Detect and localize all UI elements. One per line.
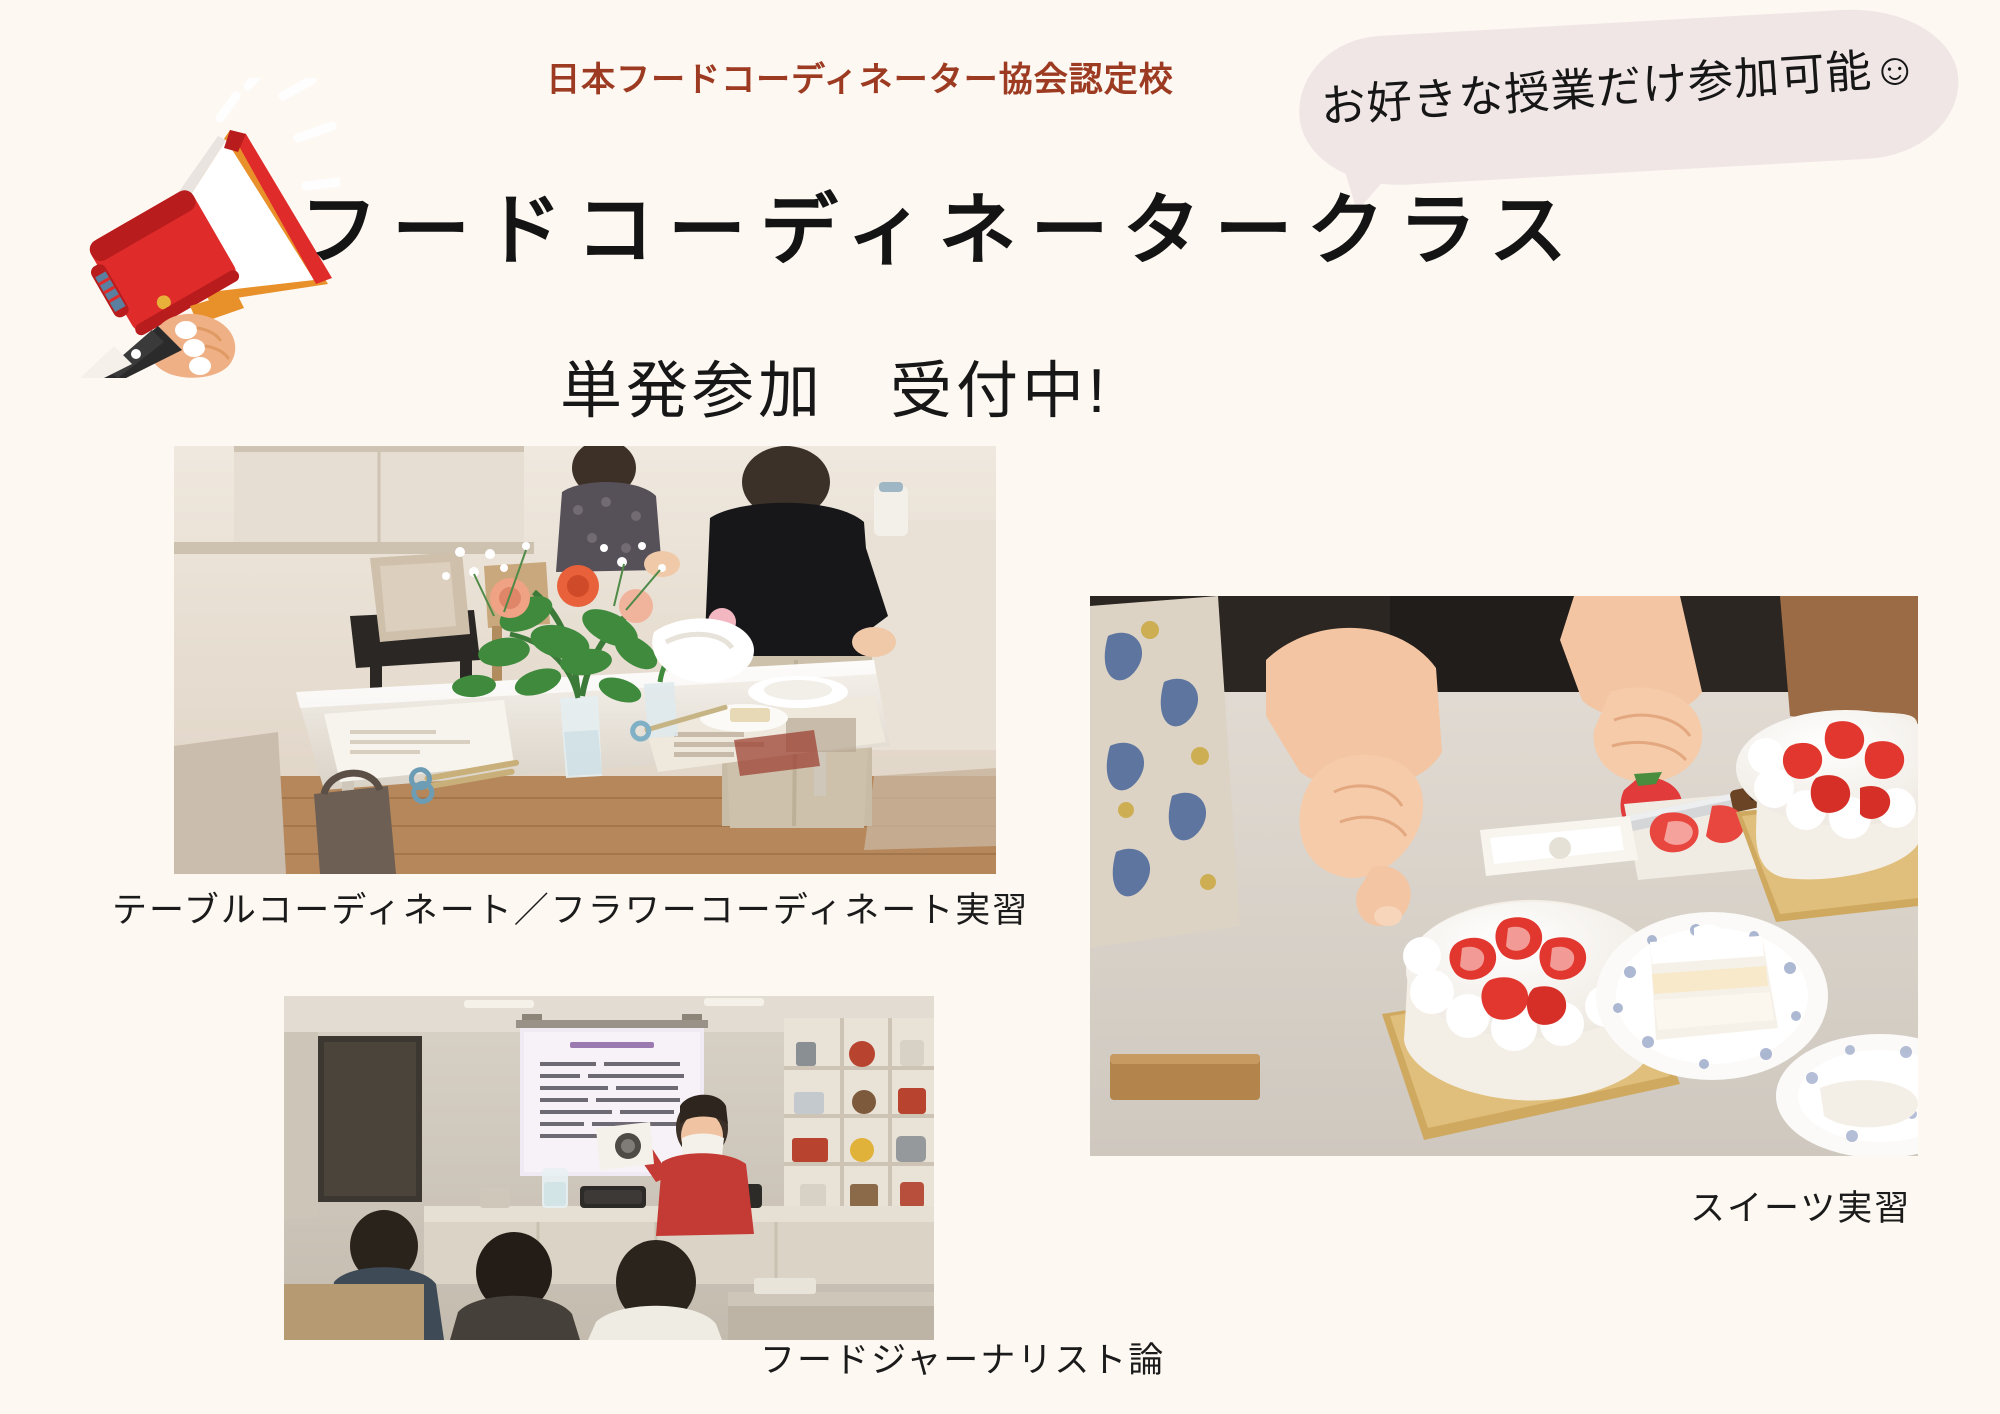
- accreditation-eyebrow: 日本フードコーディネーター協会認定校: [500, 52, 1220, 101]
- caption-food-journalist: フードジャーナリスト論: [760, 1332, 1165, 1383]
- caption-sweets-practice: スイーツ実習: [1690, 1180, 1911, 1231]
- photo-table-coordination: [174, 446, 996, 874]
- page-subtitle: 単発参加 受付中!: [560, 340, 1390, 430]
- page-title: フードコーディネータークラス: [300, 168, 1390, 280]
- megaphone-icon: [40, 78, 340, 378]
- photo-sweets-practice: [1090, 596, 1918, 1156]
- caption-table-coordination: テーブルコーディネート／フラワーコーディネート実習: [112, 882, 1029, 933]
- flyer-canvas: 日本フードコーディネーター協会認定校 お好きな授業だけ参加可能☺ フードコーディ…: [0, 0, 2000, 1414]
- photo-food-journalist: [284, 996, 934, 1340]
